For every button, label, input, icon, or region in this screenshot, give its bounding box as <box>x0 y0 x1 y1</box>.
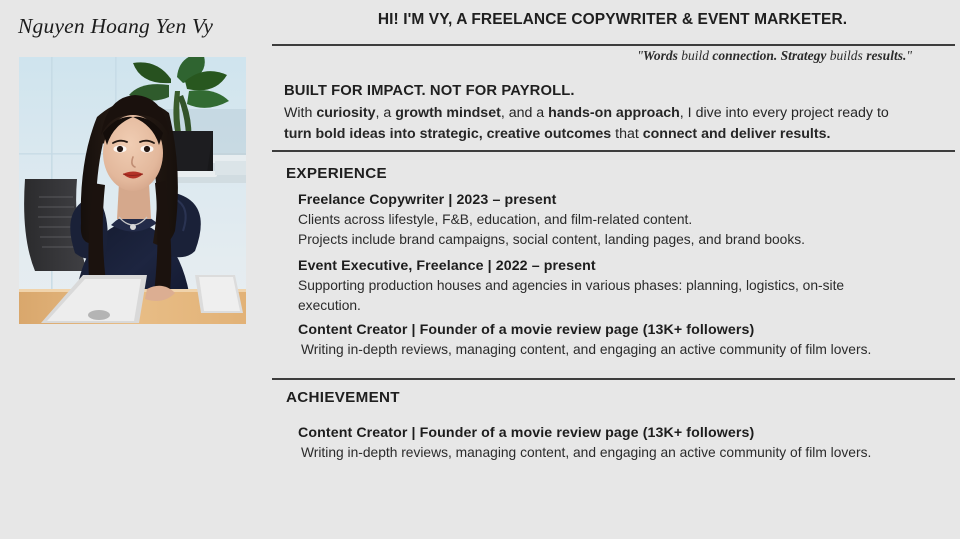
entry-line: Supporting production houses and agencie… <box>298 276 953 296</box>
tagline-part-6: results. <box>866 48 906 63</box>
entry-line: Projects include brand campaigns, social… <box>298 230 953 250</box>
achievement-entry: Content Creator | Founder of a movie rev… <box>298 425 953 463</box>
tagline-part-4: Strategy <box>777 48 826 63</box>
intro-l1-d: growth mindset <box>395 105 501 121</box>
tagline: "Words build connection. Strategy builds… <box>637 48 912 64</box>
experience-entry: Freelance Copywriter | 2023 – present Cl… <box>298 192 953 249</box>
intro-l2-a: turn bold ideas into strategic, creative… <box>284 126 611 142</box>
divider-bottom <box>272 378 955 380</box>
tagline-part-3: connection. <box>712 48 777 63</box>
entry-line: execution. <box>298 296 953 316</box>
headline: HI! I'M VY, A FREELANCE COPYWRITER & EVE… <box>265 11 960 29</box>
entry-line: Writing in-depth reviews, managing conte… <box>298 340 953 360</box>
experience-entry: Event Executive, Freelance | 2022 – pres… <box>298 258 953 315</box>
divider-middle <box>272 150 955 152</box>
entry-title: Content Creator | Founder of a movie rev… <box>298 425 953 441</box>
intro-l1-e: , and a <box>501 105 548 121</box>
entry-line: Clients across lifestyle, F&B, education… <box>298 210 953 230</box>
intro-block: BUILT FOR IMPACT. NOT FOR PAYROLL. With … <box>284 83 949 145</box>
resume-content-column: HI! I'M VY, A FREELANCE COPYWRITER & EVE… <box>265 0 960 539</box>
tagline-part-2: build <box>678 48 713 63</box>
tagline-part-5: builds <box>826 48 866 63</box>
portrait-photo-image <box>19 57 246 324</box>
intro-line-2: turn bold ideas into strategic, creative… <box>284 124 949 145</box>
divider-top <box>272 44 955 46</box>
intro-line-1: With curiosity, a growth mindset, and a … <box>284 103 949 124</box>
entry-title: Event Executive, Freelance | 2022 – pres… <box>298 258 953 274</box>
tagline-close-quote: " <box>906 48 912 63</box>
intro-heading: BUILT FOR IMPACT. NOT FOR PAYROLL. <box>284 83 949 99</box>
intro-l1-a: With <box>284 105 316 121</box>
intro-l1-g: , I dive into every project ready to <box>680 105 889 121</box>
section-heading-achievement: ACHIEVEMENT <box>286 389 400 406</box>
intro-l1-b: curiosity <box>316 105 375 121</box>
entry-line: Writing in-depth reviews, managing conte… <box>298 443 953 463</box>
intro-l2-b: that <box>611 126 643 142</box>
section-heading-experience: EXPERIENCE <box>286 165 387 182</box>
intro-l1-f: hands-on approach <box>548 105 680 121</box>
profile-photo <box>19 57 246 324</box>
page-title: Nguyen Hoang Yen Vy <box>18 12 213 40</box>
profile-column: Nguyen Hoang Yen Vy <box>0 0 265 539</box>
intro-l2-c: connect and deliver results. <box>643 126 831 142</box>
entry-title: Freelance Copywriter | 2023 – present <box>298 192 953 208</box>
experience-entry: Content Creator | Founder of a movie rev… <box>298 322 953 360</box>
intro-l1-c: , a <box>375 105 395 121</box>
tagline-part-1: Words <box>643 48 678 63</box>
entry-title: Content Creator | Founder of a movie rev… <box>298 322 953 338</box>
